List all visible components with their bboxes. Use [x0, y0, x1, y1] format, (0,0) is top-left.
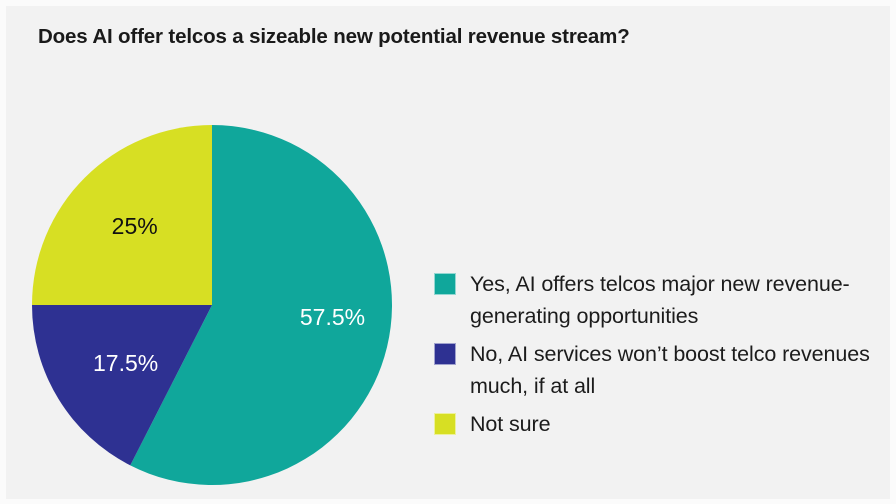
- legend-item[interactable]: Not sure: [434, 408, 886, 440]
- legend-item-label: Yes, AI offers telcos major new revenue-…: [470, 268, 870, 332]
- legend-color-swatch: [434, 413, 456, 435]
- legend-item-label: No, AI services won’t boost telco revenu…: [470, 338, 870, 402]
- page-title: Does AI offer telcos a sizeable new pote…: [38, 24, 858, 50]
- canvas-border-bottom: [0, 499, 896, 504]
- pie-chart-svg: 57.5%17.5%25%: [30, 123, 394, 487]
- canvas-border-right: [890, 0, 896, 504]
- canvas-border-left: [0, 0, 6, 504]
- pie-slice-value-label: 17.5%: [93, 350, 158, 376]
- legend-item[interactable]: Yes, AI offers telcos major new revenue-…: [434, 268, 886, 332]
- legend-item[interactable]: No, AI services won’t boost telco revenu…: [434, 338, 886, 402]
- pie-slice-value-label: 57.5%: [300, 304, 365, 330]
- legend-item-label: Not sure: [470, 408, 550, 440]
- legend-color-swatch: [434, 273, 456, 295]
- pie-slice-value-label: 25%: [112, 213, 158, 239]
- chart-canvas: Does AI offer telcos a sizeable new pote…: [0, 0, 896, 504]
- pie-chart: 57.5%17.5%25%: [30, 123, 394, 487]
- legend-color-swatch: [434, 343, 456, 365]
- chart-legend: Yes, AI offers telcos major new revenue-…: [434, 268, 886, 446]
- canvas-border-top: [0, 0, 896, 6]
